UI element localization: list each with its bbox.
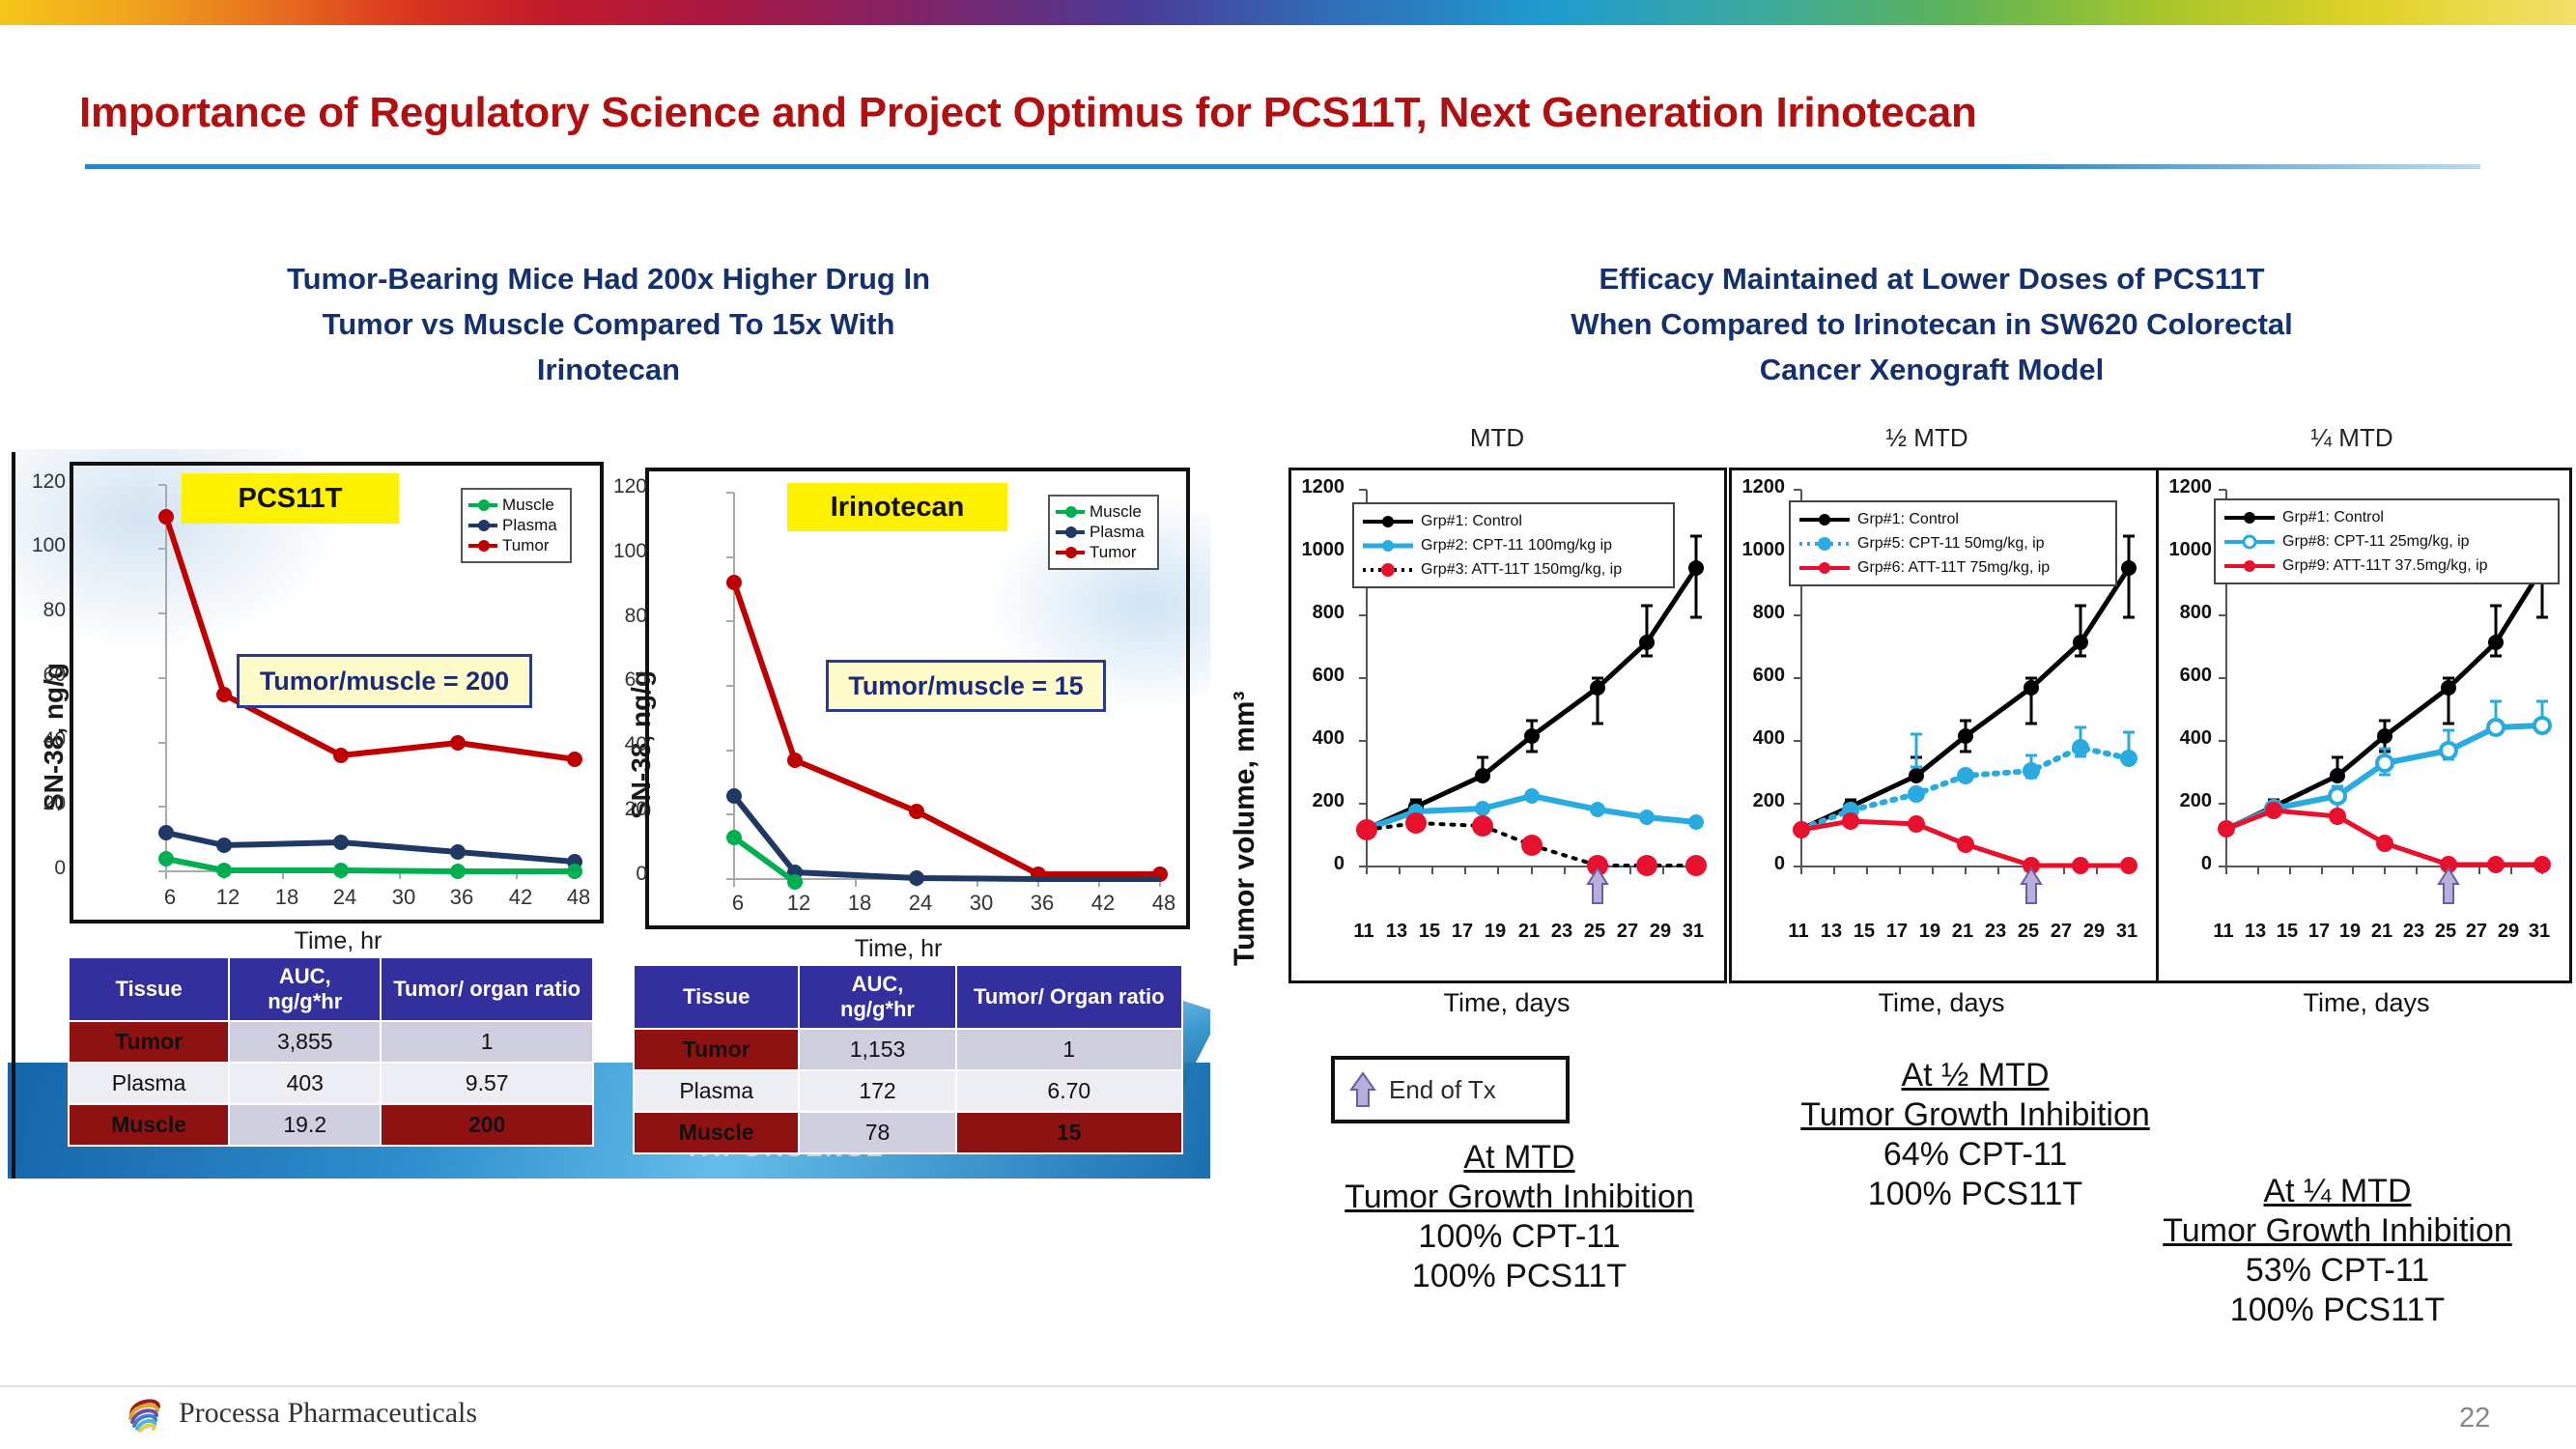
tvq-xtick-17: 17 xyxy=(2303,921,2335,943)
tvhalf-ytick-800: 800 xyxy=(1731,602,1785,624)
end-of-tx-legend-box: End of Tx xyxy=(1331,1056,1570,1123)
td-auc-plasma: 403 xyxy=(229,1063,381,1104)
pk2-legend-item-plasma: Plasma xyxy=(1056,522,1148,542)
pk2-xtick-36: 36 xyxy=(1023,891,1062,916)
tvmtd-xtick-11: 11 xyxy=(1347,921,1380,943)
tvmtd-ytick-400: 400 xyxy=(1290,727,1345,750)
cpt11-dotted-swatch-icon xyxy=(1798,535,1852,553)
right-heading-line3: Cancer Xenograft Model xyxy=(1352,347,2511,392)
tvq-legend-item-cpt11: Grp#8: CPT-11 25mg/kg, ip xyxy=(2222,529,2551,554)
tvmtd-xtick-13: 13 xyxy=(1380,921,1413,943)
annot-q-line3: 53% CPT-11 xyxy=(2130,1251,2545,1291)
tvhalf-xtick-11: 11 xyxy=(1782,921,1815,943)
td-ratio-muscle: 15 xyxy=(956,1112,1182,1153)
tvq-x-axis-label: Time, days xyxy=(2222,988,2511,1018)
page-number: 22 xyxy=(2459,1403,2490,1435)
tvhalf-legend-label-3: Grp#6: ATT-11T 75mg/kg, ip xyxy=(1857,559,2050,577)
tvmtd-xtick-27: 27 xyxy=(1611,921,1644,943)
pk1-legend-item-tumor: Tumor xyxy=(468,535,561,555)
pk1-ytick-120: 120 xyxy=(19,470,66,494)
tvq-xtick-25: 25 xyxy=(2429,921,2462,943)
pk1-xtick-12: 12 xyxy=(209,885,247,910)
pk2-xtick-6: 6 xyxy=(719,891,757,916)
tvquarter-ytick-800: 800 xyxy=(2158,602,2212,624)
pk2-xtick-12: 12 xyxy=(779,891,818,916)
tvmtd-ytick-1000: 1000 xyxy=(1290,539,1345,561)
left-panel-heading: Tumor-Bearing Mice Had 200x Higher Drug … xyxy=(126,256,1091,392)
pk2-xtick-24: 24 xyxy=(901,891,940,916)
annot-q-line2: Tumor Growth Inhibition xyxy=(2130,1211,2545,1251)
tvmtd-legend-label-3: Grp#3: ATT-11T 150mg/kg, ip xyxy=(1421,561,1622,579)
pk1-legend-label-tumor: Tumor xyxy=(502,536,550,555)
tvquarter-ytick-200: 200 xyxy=(2158,790,2212,812)
td-ratio-plasma: 6.70 xyxy=(956,1070,1182,1112)
pk2-ytick-40: 40 xyxy=(601,733,647,756)
left-panel-vertical-rule xyxy=(12,452,15,1179)
tvmtd-legend-item-cpt11: Grp#2: CPT-11 100mg/kg ip xyxy=(1361,533,1666,557)
tvhalf-legend-label-2: Grp#5: CPT-11 50mg/kg, ip xyxy=(1857,535,2045,553)
tvhalf-xtick-15: 15 xyxy=(1848,921,1881,943)
pk2-ytick-0: 0 xyxy=(601,863,647,886)
left-heading-line1: Tumor-Bearing Mice Had 200x Higher Drug … xyxy=(126,256,1091,301)
annot-mtd-line2: Tumor Growth Inhibition xyxy=(1312,1178,1727,1217)
tvhalf-xtick-13: 13 xyxy=(1815,921,1848,943)
table-row: Plasma 403 9.57 xyxy=(69,1063,593,1104)
td-tissue-muscle: Muscle xyxy=(69,1104,229,1146)
tvq-xtick-27: 27 xyxy=(2460,921,2493,943)
table-header-row: Tissue AUC, ng/g*hr Tumor/ Organ ratio xyxy=(634,965,1182,1029)
table-row: Plasma 172 6.70 xyxy=(634,1070,1182,1112)
pk1-xtick-18: 18 xyxy=(268,885,306,910)
tvhalf-ytick-600: 600 xyxy=(1731,665,1785,687)
tvhalf-ytick-200: 200 xyxy=(1731,790,1785,812)
pk1-legend-label-muscle: Muscle xyxy=(502,496,554,515)
pk1-xtick-48: 48 xyxy=(559,885,598,910)
pk2-ytick-80: 80 xyxy=(601,605,647,628)
left-heading-line2: Tumor vs Muscle Compared To 15x With xyxy=(126,301,1091,347)
tvq-xtick-15: 15 xyxy=(2271,921,2304,943)
annot-half-line2: Tumor Growth Inhibition xyxy=(1768,1095,2183,1135)
annot-q-line4: 100% PCS11T xyxy=(2130,1291,2545,1330)
pk1-ytick-20: 20 xyxy=(19,792,66,815)
tvhalf-xtick-29: 29 xyxy=(2078,921,2110,943)
mtd-caption-half: ½ MTD xyxy=(1801,423,2052,453)
left-heading-line3: Irinotecan xyxy=(126,347,1091,392)
pk1-legend: Muscle Plasma Tumor xyxy=(461,488,572,563)
tvq-xtick-13: 13 xyxy=(2239,921,2272,943)
tvmtd-ytick-600: 600 xyxy=(1290,665,1345,687)
th-auc-line2: ng/g*hr xyxy=(234,989,376,1014)
tvhalf-xtick-25: 25 xyxy=(2012,921,2045,943)
pk1-x-axis-label: Time, hr xyxy=(222,927,454,955)
pk1-ytick-80: 80 xyxy=(19,599,66,622)
tvq-xtick-23: 23 xyxy=(2397,921,2430,943)
pk1-legend-label-plasma: Plasma xyxy=(502,516,557,535)
right-panel-heading: Efficacy Maintained at Lower Doses of PC… xyxy=(1352,256,2511,392)
pk1-ratio-callout: Tumor/muscle = 200 xyxy=(237,654,532,708)
pk1-xtick-30: 30 xyxy=(384,885,423,910)
pk1-xtick-36: 36 xyxy=(442,885,481,910)
tvquarter-ytick-600: 600 xyxy=(2158,665,2212,687)
td-tissue-plasma: Plasma xyxy=(634,1070,799,1112)
annot-half-line4: 100% PCS11T xyxy=(1768,1175,2183,1214)
tvq-legend-item-control: Grp#1: Control xyxy=(2222,505,2551,529)
annot-mtd-line4: 100% PCS11T xyxy=(1312,1257,1727,1296)
tvmtd-xtick-23: 23 xyxy=(1545,921,1578,943)
td-tissue-tumor: Tumor xyxy=(634,1029,799,1070)
tvmtd-legend-label-1: Grp#1: Control xyxy=(1421,513,1522,530)
tvhalf-ytick-400: 400 xyxy=(1731,727,1785,750)
tvmtd-legend-item-control: Grp#1: Control xyxy=(1361,509,1666,533)
tvmtd-xtick-21: 21 xyxy=(1513,921,1545,943)
td-tissue-muscle: Muscle xyxy=(634,1112,799,1153)
pk2-xtick-42: 42 xyxy=(1084,891,1122,916)
tv-mtd-legend: Grp#1: Control Grp#2: CPT-11 100mg/kg ip… xyxy=(1352,502,1675,588)
tv-half-mtd-legend: Grp#1: Control Grp#5: CPT-11 50mg/kg, ip… xyxy=(1789,500,2117,586)
pk1-ytick-100: 100 xyxy=(19,534,66,557)
right-heading-line1: Efficacy Maintained at Lower Doses of PC… xyxy=(1352,256,2511,301)
tvhalf-ytick-0: 0 xyxy=(1731,853,1785,875)
control-line-swatch-icon xyxy=(1798,511,1852,528)
control-line-swatch-icon xyxy=(1361,513,1415,530)
td-auc-muscle: 78 xyxy=(799,1112,955,1153)
pk1-legend-item-plasma: Plasma xyxy=(468,515,561,535)
tvquarter-ytick-1000: 1000 xyxy=(2158,539,2212,561)
td-auc-tumor: 1,153 xyxy=(799,1029,955,1070)
cpt11-line-swatch-icon xyxy=(1361,537,1415,554)
table-row: Muscle 19.2 200 xyxy=(69,1104,593,1146)
th-auc-line1: AUC, xyxy=(804,972,950,997)
tvquarter-ytick-0: 0 xyxy=(2158,853,2212,875)
pk2-x-axis-label: Time, hr xyxy=(782,935,1014,963)
tvhalf-legend-item-control: Grp#1: Control xyxy=(1798,507,2109,531)
pk2-ytick-120: 120 xyxy=(601,475,647,498)
decorative-gradient-bar xyxy=(0,0,2576,25)
pk2-xtick-30: 30 xyxy=(962,891,1001,916)
pk1-ytick-0: 0 xyxy=(19,857,66,880)
annot-half-line3: 64% CPT-11 xyxy=(1768,1135,2183,1175)
auc-table-irinotecan: Tissue AUC, ng/g*hr Tumor/ Organ ratio T… xyxy=(633,964,1183,1154)
pk2-ratio-callout: Tumor/muscle = 15 xyxy=(826,660,1106,712)
pk1-legend-item-muscle: Muscle xyxy=(468,495,561,515)
pk2-ytick-20: 20 xyxy=(601,798,647,821)
tvq-legend-label-3: Grp#9: ATT-11T 37.5mg/kg, ip xyxy=(2282,557,2488,575)
tvmtd-ytick-1200: 1200 xyxy=(1290,476,1345,498)
tvhalf-xtick-27: 27 xyxy=(2045,921,2078,943)
pk2-ytick-60: 60 xyxy=(601,668,647,692)
th-auc-line1: AUC, xyxy=(234,964,376,989)
td-tissue-tumor: Tumor xyxy=(69,1021,229,1063)
control-line-swatch-icon xyxy=(2222,509,2277,526)
th-ratio: Tumor/ Organ ratio xyxy=(956,965,1182,1029)
annot-mtd-line3: 100% CPT-11 xyxy=(1312,1217,1727,1257)
annotation-quarter-mtd: At ¼ MTD Tumor Growth Inhibition 53% CPT… xyxy=(2130,1172,2545,1330)
pk1-xtick-24: 24 xyxy=(326,885,364,910)
tvhalf-legend-label-1: Grp#1: Control xyxy=(1857,511,1959,528)
end-of-tx-label: End of Tx xyxy=(1389,1075,1496,1105)
tvhalf-legend-item-cpt11: Grp#5: CPT-11 50mg/kg, ip xyxy=(1798,531,2109,555)
td-tissue-plasma: Plasma xyxy=(69,1063,229,1104)
td-ratio-plasma: 9.57 xyxy=(381,1063,593,1104)
annot-mtd-line1: At MTD xyxy=(1312,1138,1727,1178)
muscle-line-swatch-icon xyxy=(1056,510,1085,514)
table-row: Tumor 1,153 1 xyxy=(634,1029,1182,1070)
tvmtd-xtick-31: 31 xyxy=(1677,921,1710,943)
tvquarter-ytick-1200: 1200 xyxy=(2158,476,2212,498)
tvquarter-ytick-400: 400 xyxy=(2158,727,2212,750)
att11t-line-swatch-icon xyxy=(2222,557,2277,575)
th-tissue: Tissue xyxy=(634,965,799,1029)
pk2-legend-label-muscle: Muscle xyxy=(1090,502,1142,522)
tvhalf-ytick-1000: 1000 xyxy=(1731,539,1785,561)
att11t-line-swatch-icon xyxy=(1798,559,1852,577)
pk2-legend-item-muscle: Muscle xyxy=(1056,501,1148,522)
tvq-xtick-19: 19 xyxy=(2334,921,2366,943)
tvhalf-xtick-23: 23 xyxy=(1979,921,2012,943)
pk1-drug-banner: PCS11T xyxy=(182,473,399,524)
tvmtd-ytick-200: 200 xyxy=(1290,790,1345,812)
muscle-line-swatch-icon xyxy=(468,503,497,507)
td-ratio-tumor: 1 xyxy=(381,1021,593,1063)
table-header-row: Tissue AUC, ng/g*hr Tumor/ organ ratio xyxy=(69,957,593,1021)
tumor-volume-y-axis-label: Tumor volume, mm³ xyxy=(1229,692,1261,966)
pk2-legend: Muscle Plasma Tumor xyxy=(1048,495,1159,570)
table-row: Muscle 78 15 xyxy=(634,1112,1182,1153)
plasma-line-swatch-icon xyxy=(1056,530,1085,534)
annot-half-line1: At ½ MTD xyxy=(1768,1056,2183,1095)
tvhalf-x-axis-label: Time, days xyxy=(1797,988,2086,1018)
mtd-caption-full: MTD xyxy=(1372,423,1623,453)
tvhalf-ytick-1200: 1200 xyxy=(1731,476,1785,498)
annotation-mtd: At MTD Tumor Growth Inhibition 100% CPT-… xyxy=(1312,1138,1727,1296)
tumor-line-swatch-icon xyxy=(1056,551,1085,554)
tvq-xtick-31: 31 xyxy=(2523,921,2556,943)
pk2-xtick-18: 18 xyxy=(840,891,879,916)
pk1-ytick-40: 40 xyxy=(19,728,66,752)
pk2-drug-banner: Irinotecan xyxy=(787,483,1007,531)
tvmtd-ytick-0: 0 xyxy=(1290,853,1345,875)
th-auc: AUC, ng/g*hr xyxy=(799,965,955,1029)
pk1-xtick-42: 42 xyxy=(501,885,540,910)
td-auc-muscle: 19.2 xyxy=(229,1104,381,1146)
pk2-ytick-100: 100 xyxy=(601,540,647,563)
tvhalf-xtick-21: 21 xyxy=(1946,921,1979,943)
tvmtd-x-axis-label: Time, days xyxy=(1362,988,1652,1018)
mtd-caption-quarter: ¼ MTD xyxy=(2226,423,2477,453)
td-ratio-muscle: 200 xyxy=(381,1104,593,1146)
tvmtd-xtick-15: 15 xyxy=(1413,921,1446,943)
footer-divider xyxy=(0,1385,2576,1387)
tvq-xtick-29: 29 xyxy=(2492,921,2525,943)
right-heading-line2: When Compared to Irinotecan in SW620 Col… xyxy=(1352,301,2511,347)
auc-table-pcs11t: Tissue AUC, ng/g*hr Tumor/ organ ratio T… xyxy=(68,956,594,1147)
tvmtd-xtick-25: 25 xyxy=(1578,921,1611,943)
end-of-tx-arrow-icon xyxy=(2439,868,2458,903)
tvmtd-xtick-29: 29 xyxy=(1644,921,1677,943)
annotation-half-mtd: At ½ MTD Tumor Growth Inhibition 64% CPT… xyxy=(1768,1056,2183,1214)
pk1-ytick-60: 60 xyxy=(19,664,66,687)
tvq-xtick-11: 11 xyxy=(2207,921,2240,943)
pk2-legend-label-tumor: Tumor xyxy=(1090,543,1137,562)
footer-brand: Processa Pharmaceuticals xyxy=(126,1393,477,1434)
end-of-tx-arrow-icon xyxy=(1348,1070,1377,1109)
tvmtd-xtick-19: 19 xyxy=(1479,921,1512,943)
tvq-legend-label-1: Grp#1: Control xyxy=(2282,509,2384,526)
company-name: Processa Pharmaceuticals xyxy=(179,1397,477,1430)
annot-q-line1: At ¼ MTD xyxy=(2130,1172,2545,1211)
cpt11-open-marker-swatch-icon xyxy=(2222,533,2277,551)
td-auc-plasma: 172 xyxy=(799,1070,955,1112)
th-ratio: Tumor/ organ ratio xyxy=(381,957,593,1021)
td-auc-tumor: 3,855 xyxy=(229,1021,381,1063)
tvhalf-xtick-19: 19 xyxy=(1913,921,1946,943)
end-of-tx-arrow-icon xyxy=(2022,868,2041,903)
plasma-line-swatch-icon xyxy=(468,524,497,527)
processa-logo-icon xyxy=(126,1393,166,1434)
title-underline-rule xyxy=(85,164,2480,169)
tvmtd-legend-item-att11t: Grp#3: ATT-11T 150mg/kg, ip xyxy=(1361,557,1666,582)
pk2-legend-label-plasma: Plasma xyxy=(1090,523,1145,542)
th-tissue: Tissue xyxy=(69,957,229,1021)
tvmtd-legend-label-2: Grp#2: CPT-11 100mg/kg ip xyxy=(1421,537,1612,554)
tvhalf-xtick-31: 31 xyxy=(2110,921,2143,943)
pk2-legend-item-tumor: Tumor xyxy=(1056,542,1148,562)
pk2-xtick-48: 48 xyxy=(1145,891,1183,916)
tvmtd-xtick-17: 17 xyxy=(1446,921,1479,943)
tumor-line-swatch-icon xyxy=(468,544,497,548)
th-auc: AUC, ng/g*hr xyxy=(229,957,381,1021)
tvhalf-legend-item-att11t: Grp#6: ATT-11T 75mg/kg, ip xyxy=(1798,555,2109,580)
th-auc-line2: ng/g*hr xyxy=(804,997,950,1022)
att11t-line-swatch-icon xyxy=(1361,561,1415,579)
tvq-legend-label-2: Grp#8: CPT-11 25mg/kg, ip xyxy=(2282,533,2470,551)
tvq-legend-item-att11t: Grp#9: ATT-11T 37.5mg/kg, ip xyxy=(2222,554,2551,578)
pk1-xtick-6: 6 xyxy=(151,885,189,910)
tvmtd-ytick-800: 800 xyxy=(1290,602,1345,624)
tv-quarter-mtd-legend: Grp#1: Control Grp#8: CPT-11 25mg/kg, ip… xyxy=(2214,498,2560,584)
slide-title: Importance of Regulatory Science and Pro… xyxy=(79,89,2494,137)
table-row: Tumor 3,855 1 xyxy=(69,1021,593,1063)
td-ratio-tumor: 1 xyxy=(956,1029,1182,1070)
tvq-xtick-21: 21 xyxy=(2365,921,2398,943)
tvhalf-xtick-17: 17 xyxy=(1881,921,1913,943)
